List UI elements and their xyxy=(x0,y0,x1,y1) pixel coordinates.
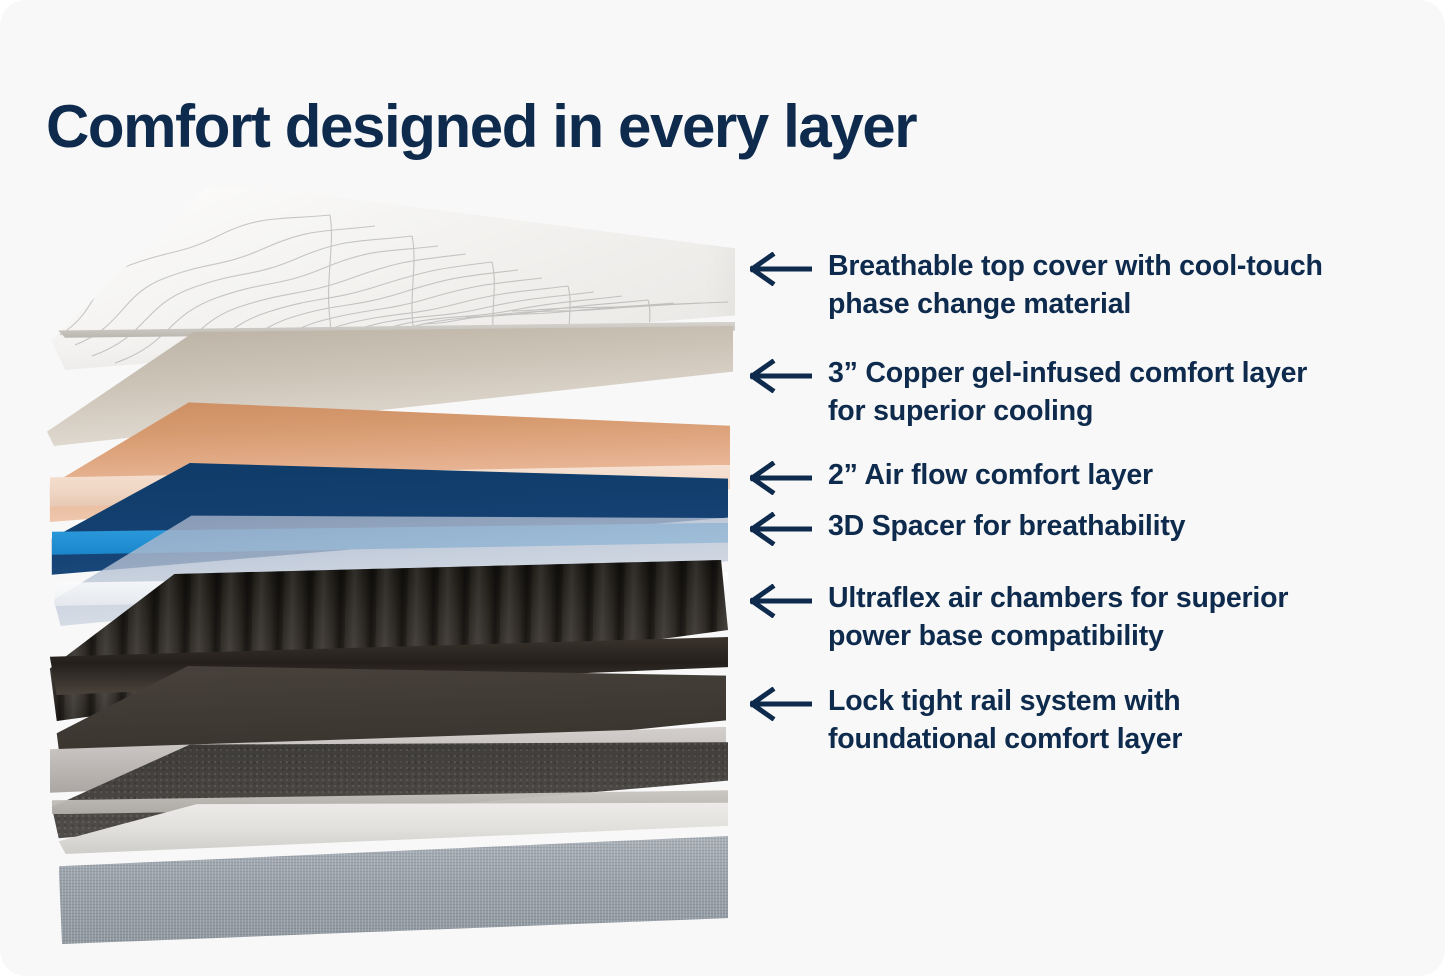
arrow-left-icon xyxy=(750,461,812,495)
annotation-text: Breathable top cover with cool-touch pha… xyxy=(828,248,1350,324)
annotation-text: 3” Copper gel-infused comfort layer for … xyxy=(828,355,1350,431)
arrow-left-icon xyxy=(750,252,812,286)
exploded-mattress-diagram xyxy=(0,150,760,940)
arrow-left-icon xyxy=(750,359,812,393)
annotation-lock-tight-rail-system: Lock tight rail system with foundational… xyxy=(750,683,1350,759)
annotation-text: 2” Air flow comfort layer xyxy=(828,457,1153,495)
annotation-ultraflex-air-chambers: Ultraflex air chambers for superior powe… xyxy=(750,580,1370,656)
annotation-copper-comfort-layer: 3” Copper gel-infused comfort layer for … xyxy=(750,355,1350,431)
layer-fabric-foundation xyxy=(38,790,728,950)
annotation-3d-spacer: 3D Spacer for breathability xyxy=(750,508,1350,546)
annotation-top-cover: Breathable top cover with cool-touch pha… xyxy=(750,248,1350,324)
annotation-air-flow-comfort-layer: 2” Air flow comfort layer xyxy=(750,457,1350,495)
arrow-left-icon xyxy=(750,512,812,546)
foundation-weave-texture xyxy=(59,836,728,944)
arrow-left-icon xyxy=(750,687,812,721)
layer-diagram-card: Comfort designed in every layer xyxy=(0,0,1445,976)
arrow-left-icon xyxy=(750,584,812,618)
annotation-text: Ultraflex air chambers for superior powe… xyxy=(828,580,1370,656)
annotation-text: Lock tight rail system with foundational… xyxy=(828,683,1350,759)
annotation-text: 3D Spacer for breathability xyxy=(828,508,1185,546)
